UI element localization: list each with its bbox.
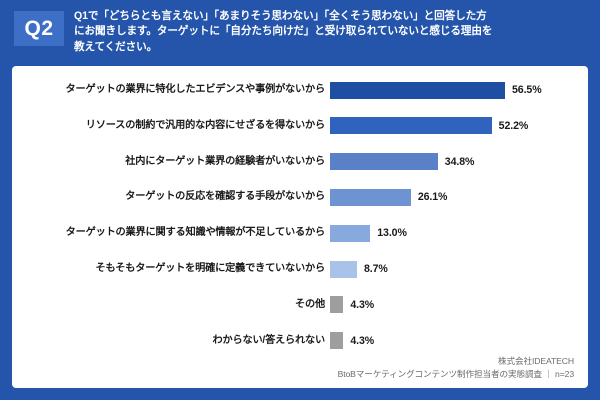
bar-category-label: 社内にターゲット業界の経験者がいないから	[12, 152, 325, 172]
bar-category-label: ターゲットの業界に関する知識や情報が不足しているから	[12, 223, 325, 243]
bar-row: リソースの制約で汎用的な内容にせざるを得ないから52.2%	[12, 116, 588, 136]
footer-company: 株式会社IDEATECH	[338, 355, 574, 368]
bar-value-label: 26.1%	[418, 187, 448, 207]
chart-card: ターゲットの業界に特化したエビデンスや事例がないから56.5%リソースの制約で汎…	[12, 66, 588, 388]
bar-category-label: その他	[12, 295, 325, 315]
bar-row: そもそもターゲットを明確に定義できていないから8.7%	[12, 259, 588, 279]
footer-survey: BtoBマーケティングコンテンツ制作担当者の実態調査 ｜ n=23	[338, 368, 574, 381]
bar-row: ターゲットの業界に関する知識や情報が不足しているから13.0%	[12, 223, 588, 243]
bar-fill	[330, 82, 505, 99]
question-header: Q2 Q1で「どちらとも言えない」「あまりそう思わない」「全くそう思わない」と回…	[0, 0, 600, 66]
question-text-line-2: にお聞きします。ターゲットに「自分たち向けだ」と受け取られていないと感じる理由を	[74, 24, 588, 39]
bar-category-label: リソースの制約で汎用的な内容にせざるを得ないから	[12, 116, 325, 136]
question-text: Q1で「どちらとも言えない」「あまりそう思わない」「全くそう思わない」と回答した…	[74, 9, 588, 55]
bar-category-label: わからない/答えられない	[12, 331, 325, 351]
survey-slide: Q2 Q1で「どちらとも言えない」「あまりそう思わない」「全くそう思わない」と回…	[0, 0, 600, 400]
bar-value-label: 52.2%	[499, 116, 529, 136]
bar-row: ターゲットの反応を確認する手段がないから26.1%	[12, 187, 588, 207]
question-text-line-3: 教えてください。	[74, 40, 588, 55]
bar-category-label: ターゲットの業界に特化したエビデンスや事例がないから	[12, 80, 325, 100]
chart-footer: 株式会社IDEATECH BtoBマーケティングコンテンツ制作担当者の実態調査 …	[338, 355, 574, 380]
question-text-line-1: Q1で「どちらとも言えない」「あまりそう思わない」「全くそう思わない」と回答した…	[74, 9, 588, 24]
bar-value-label: 8.7%	[364, 259, 388, 279]
bar-value-label: 4.3%	[350, 331, 374, 351]
bar-value-label: 4.3%	[350, 295, 374, 315]
bar-category-label: ターゲットの反応を確認する手段がないから	[12, 187, 325, 207]
bar-value-label: 13.0%	[377, 223, 407, 243]
bar-row: 社内にターゲット業界の経験者がいないから34.8%	[12, 152, 588, 172]
bar-fill	[330, 332, 343, 349]
bar-fill	[330, 117, 492, 134]
bar-row: わからない/答えられない4.3%	[12, 331, 588, 351]
bar-fill	[330, 261, 357, 278]
bar-fill	[330, 153, 438, 170]
bar-fill	[330, 296, 343, 313]
bar-category-label: そもそもターゲットを明確に定義できていないから	[12, 259, 325, 279]
question-number-badge: Q2	[14, 11, 64, 46]
bar-fill	[330, 189, 411, 206]
bar-row: その他4.3%	[12, 295, 588, 315]
bar-chart: ターゲットの業界に特化したエビデンスや事例がないから56.5%リソースの制約で汎…	[12, 66, 588, 334]
bar-value-label: 34.8%	[445, 152, 475, 172]
bar-value-label: 56.5%	[512, 80, 542, 100]
bar-fill	[330, 225, 370, 242]
bar-row: ターゲットの業界に特化したエビデンスや事例がないから56.5%	[12, 80, 588, 100]
